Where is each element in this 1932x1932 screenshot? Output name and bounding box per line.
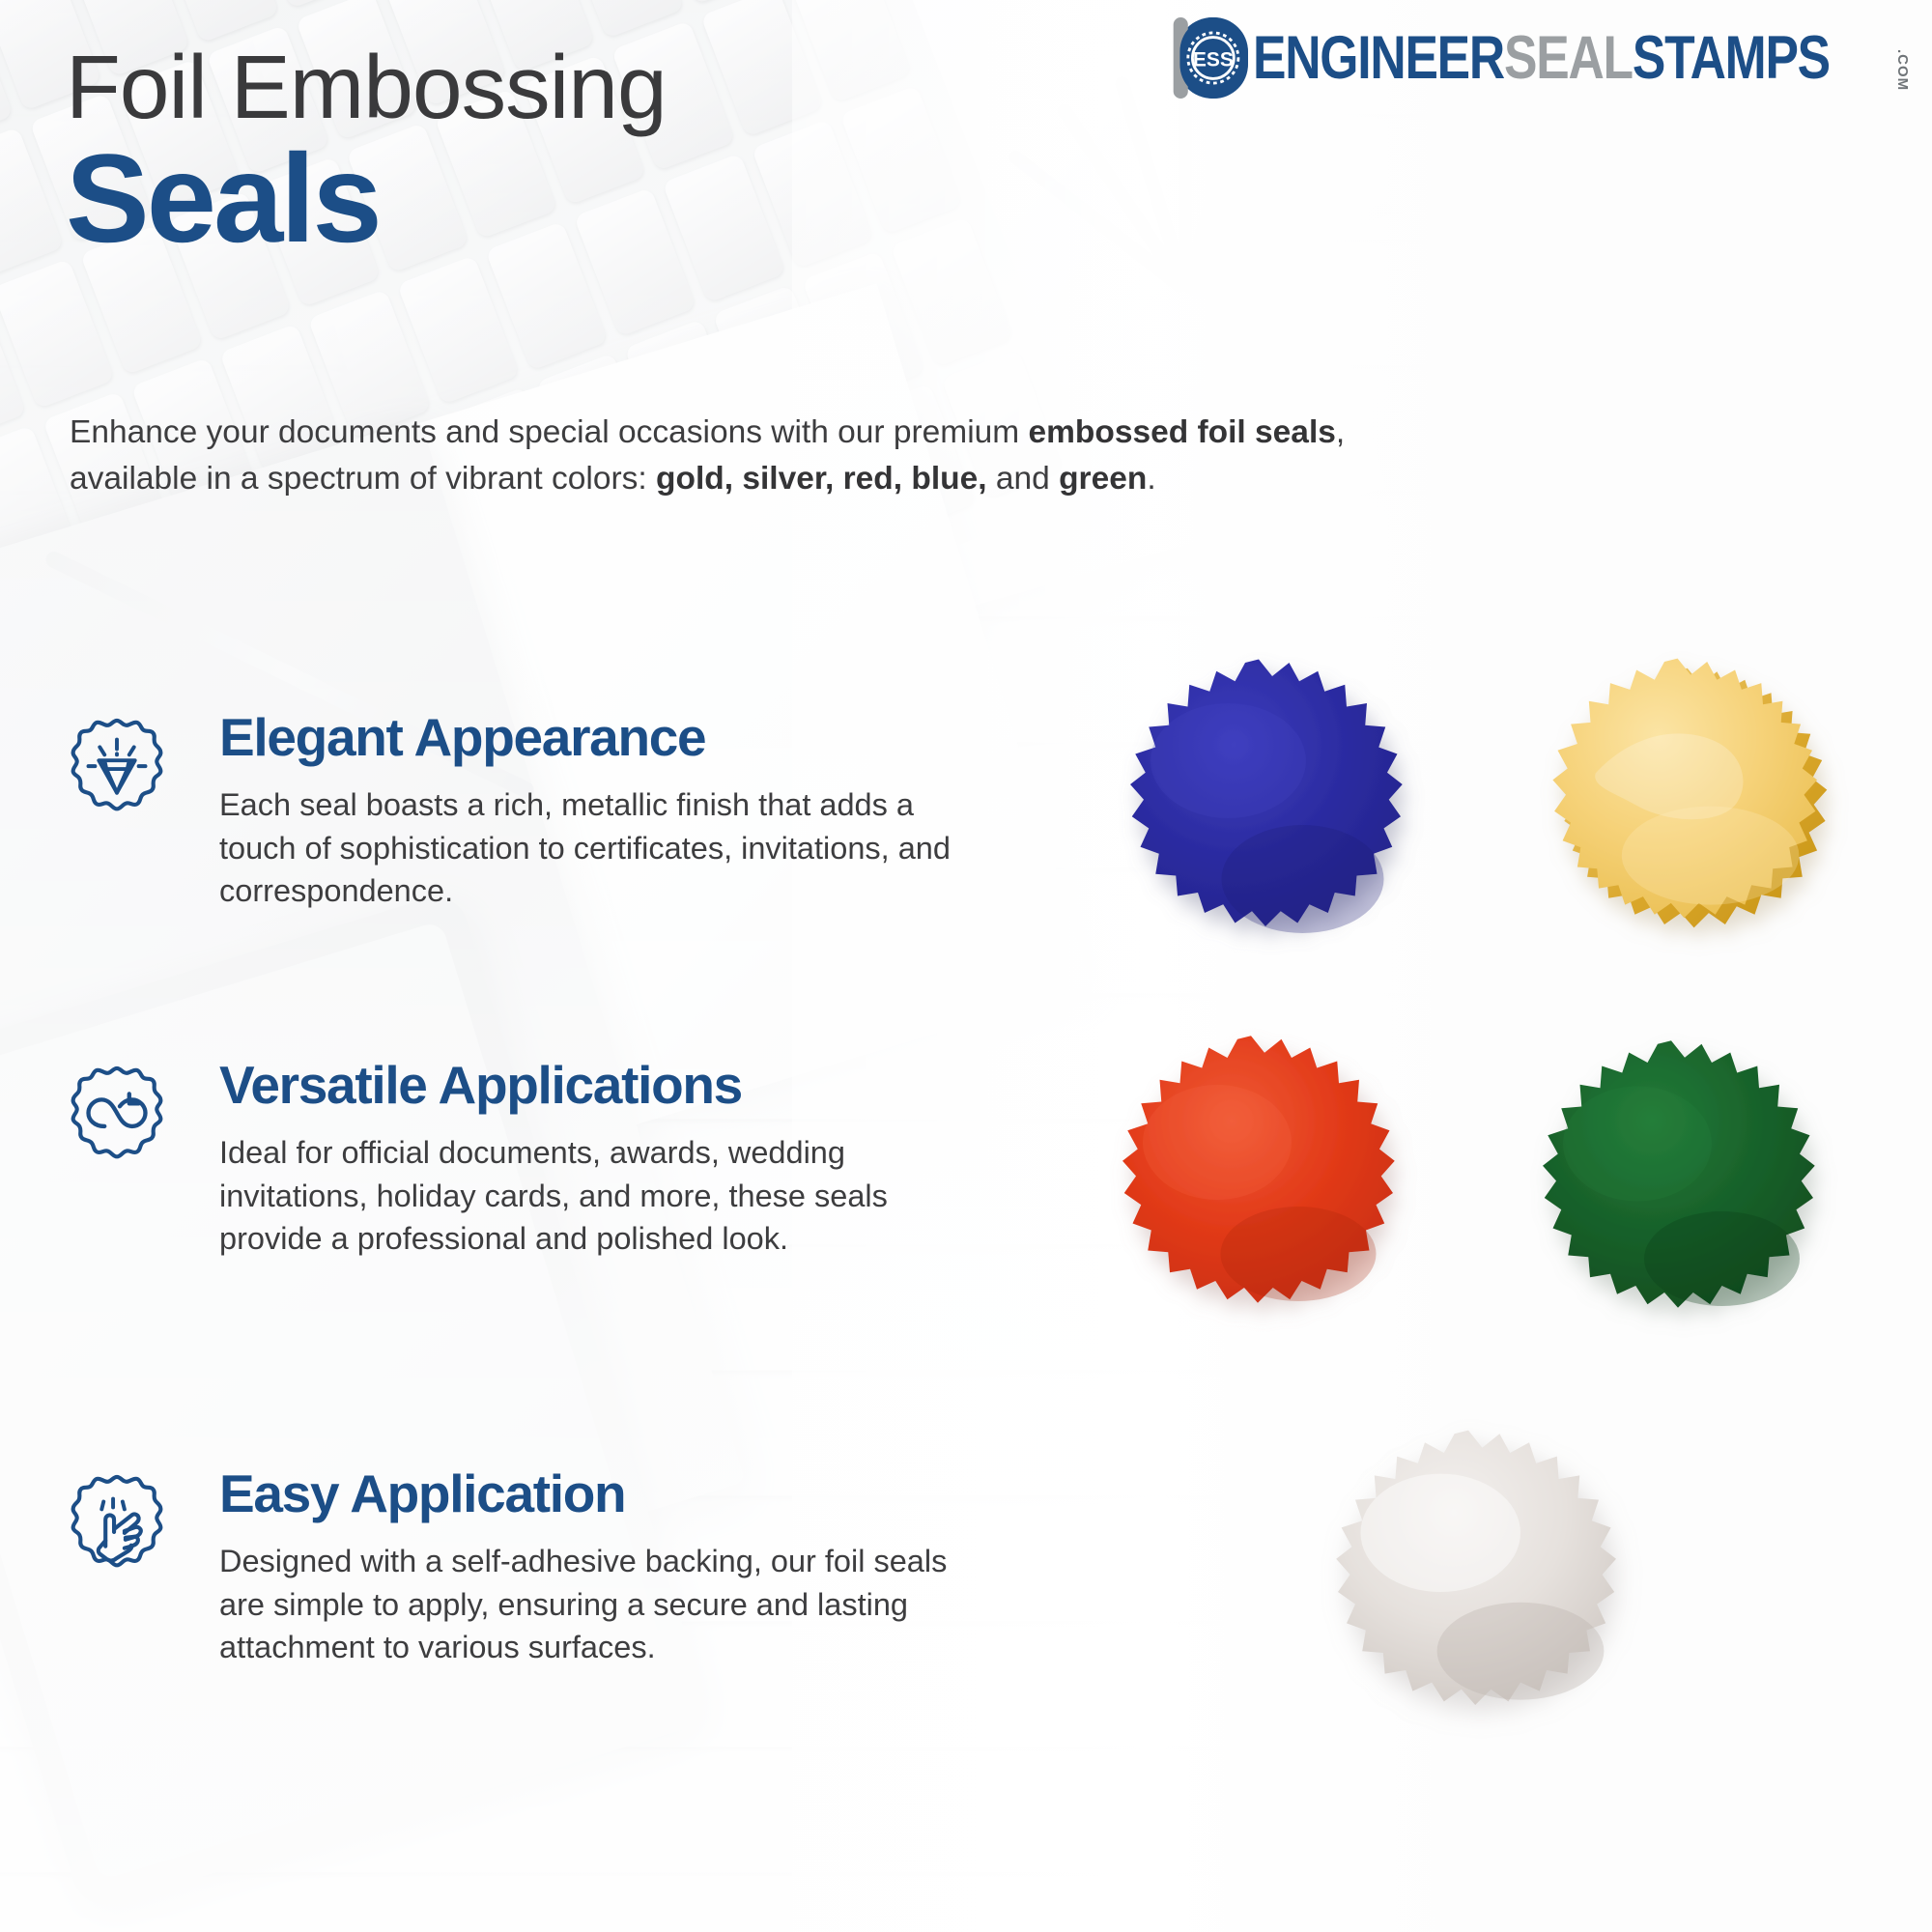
svg-text:ESS: ESS xyxy=(1193,48,1234,71)
tap-hand-icon xyxy=(60,1472,174,1586)
infographic-page: ESS ENGINEERSEALSTAMPS .COM Foil Embossi… xyxy=(0,0,1932,1932)
brand-word-stamps: STAMPS xyxy=(1633,24,1830,92)
feature-heading: Versatile Applications xyxy=(219,1058,949,1114)
content-root: ESS ENGINEERSEALSTAMPS .COM Foil Embossi… xyxy=(0,0,1932,1932)
intro-line2-c: and xyxy=(987,461,1060,497)
seal-gold xyxy=(1488,645,1874,974)
feature-body: Each seal boasts a rich, metallic finish… xyxy=(219,783,973,914)
intro-line2-a: available in a spectrum of vibrant color… xyxy=(70,461,656,497)
brand-logo[interactable]: ESS ENGINEERSEALSTAMPS .COM xyxy=(1172,17,1911,99)
seal-silver xyxy=(1275,1418,1662,1766)
intro-line2-colors: gold, silver, red, blue, xyxy=(656,461,987,497)
brand-tld: .COM xyxy=(1894,49,1911,91)
intro-line1-bold: embossed foil seals xyxy=(1029,414,1336,450)
intro-line1-c: , xyxy=(1336,414,1345,450)
page-title-bold: Seals xyxy=(66,135,380,261)
diamond-icon xyxy=(60,716,174,830)
feature-heading: Easy Application xyxy=(219,1466,949,1522)
feature-body: Ideal for official documents, awards, we… xyxy=(219,1131,973,1262)
brand-word-seal: SEAL xyxy=(1504,24,1633,92)
page-title-light: Foil Embossing xyxy=(66,43,667,132)
intro-line2-green: green xyxy=(1059,461,1147,497)
seal-green xyxy=(1478,1029,1864,1367)
intro-paragraph: Enhance your documents and special occas… xyxy=(70,410,1480,501)
seal-red xyxy=(1058,1024,1444,1362)
feature-elegant-appearance: Elegant Appearance Each seal boasts a ri… xyxy=(60,710,949,913)
ess-gear-badge-icon: ESS xyxy=(1172,17,1253,99)
feature-easy-application: Easy Application Designed with a self-ad… xyxy=(60,1466,949,1669)
seal-blue xyxy=(1080,649,1437,987)
feature-versatile-applications: Versatile Applications Ideal for officia… xyxy=(60,1058,949,1261)
feature-heading: Elegant Appearance xyxy=(219,710,949,766)
intro-line2-e: . xyxy=(1147,461,1155,497)
intro-line1-a: Enhance your documents and special occas… xyxy=(70,414,1029,450)
feature-body: Designed with a self-adhesive backing, o… xyxy=(219,1540,973,1670)
infinity-arrow-icon xyxy=(60,1064,174,1178)
brand-word-engineer: ENGINEER xyxy=(1253,24,1504,92)
brand-wordmark: ENGINEERSEALSTAMPS xyxy=(1253,28,1830,89)
